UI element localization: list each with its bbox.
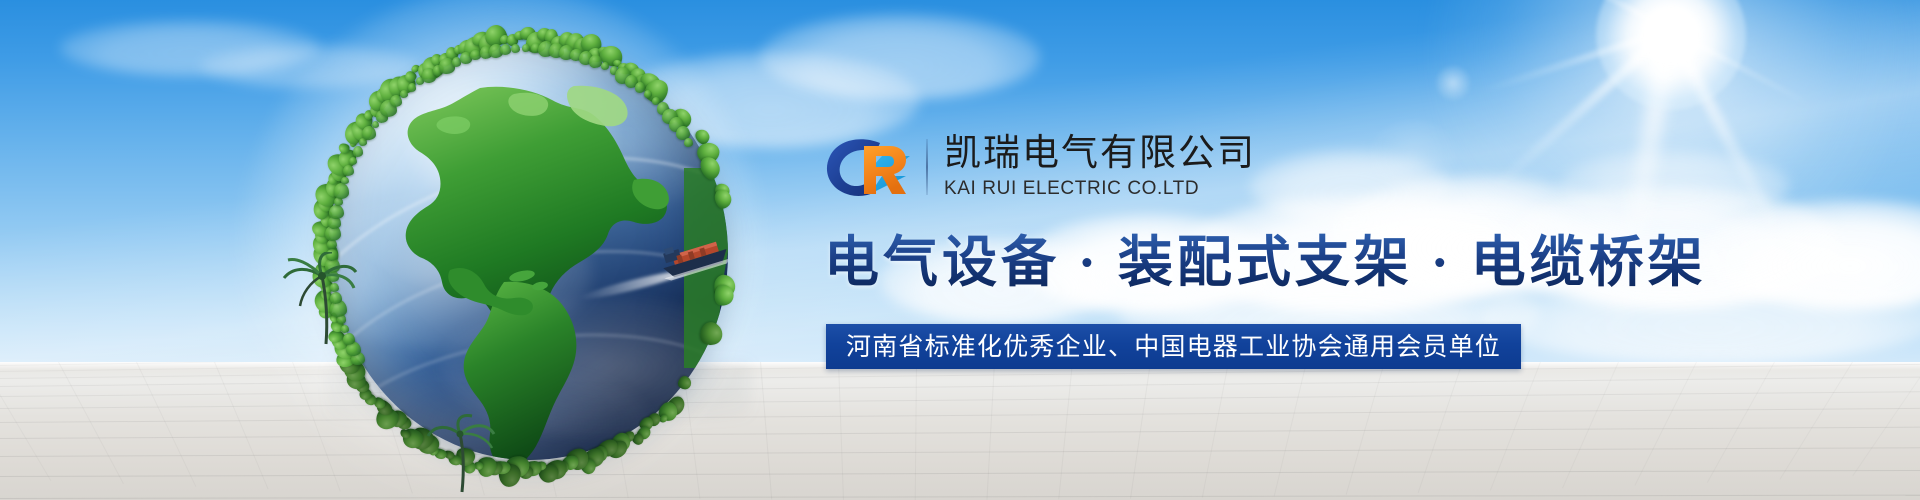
certification-badge: 河南省标准化优秀企业、中国电器工业协会通用会员单位 (826, 324, 1521, 369)
brand-divider (926, 139, 928, 195)
brand-names: 凯瑞电气有限公司 KAI RUI ELECTRIC CO.LTD (944, 132, 1256, 202)
brand-lockup: 凯瑞电气有限公司 KAI RUI ELECTRIC CO.LTD (824, 132, 1256, 202)
banner-content: 凯瑞电气有限公司 KAI RUI ELECTRIC CO.LTD 电气设备 · … (0, 0, 1920, 500)
company-name-en: KAI RUI ELECTRIC CO.LTD (944, 176, 1256, 202)
company-name-cn: 凯瑞电气有限公司 (944, 132, 1256, 174)
cr-monogram-logo-icon (824, 136, 916, 198)
hero-banner: 凯瑞电气有限公司 KAI RUI ELECTRIC CO.LTD 电气设备 · … (0, 0, 1920, 500)
certification-text: 河南省标准化优秀企业、中国电器工业协会通用会员单位 (846, 332, 1501, 362)
headline-tagline: 电气设备 · 装配式支架 · 电缆桥架 (824, 232, 1707, 294)
